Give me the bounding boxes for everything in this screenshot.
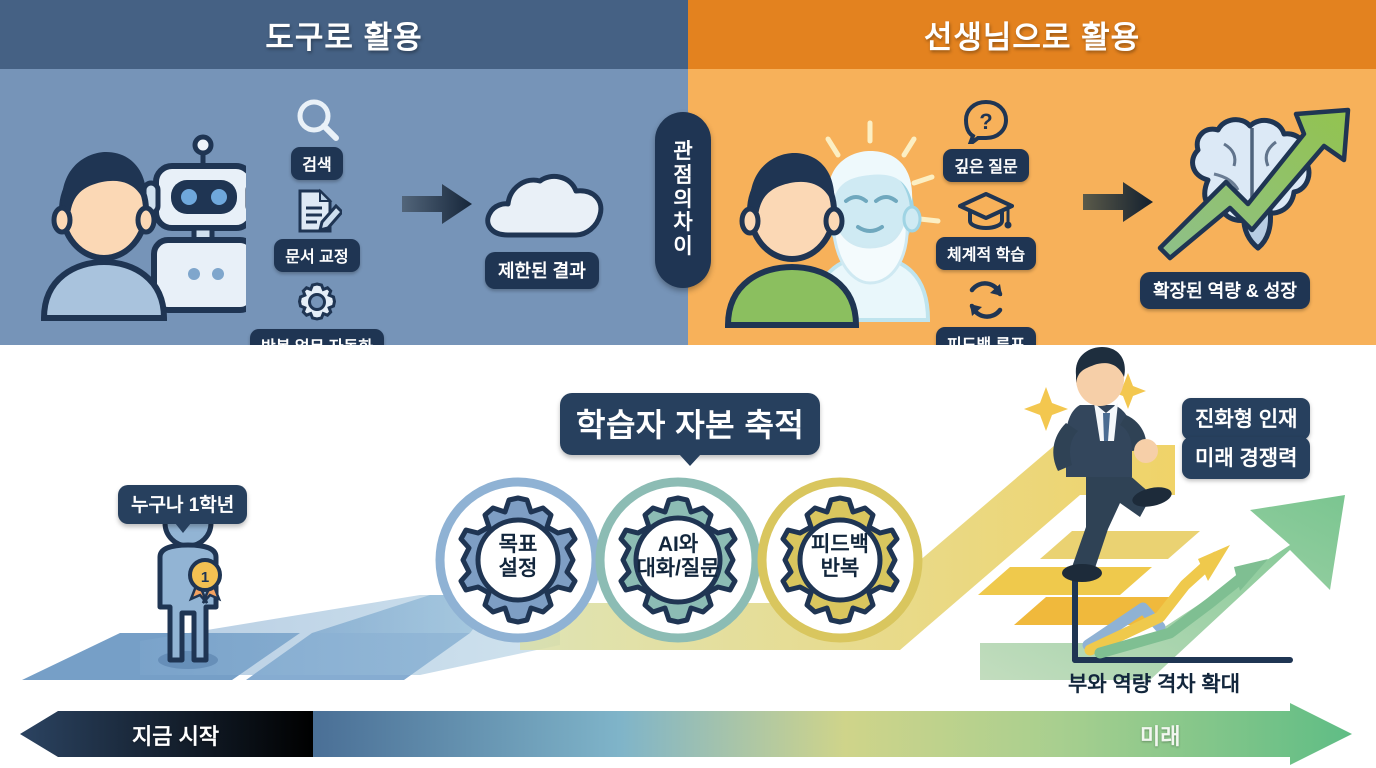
divider-char-3: 의 — [673, 189, 692, 212]
right-panel-header: 선생님으로 활용 — [688, 0, 1376, 69]
gear-icon — [294, 280, 340, 324]
right-panel-title: 선생님으로 활용 — [924, 12, 1140, 57]
bottom-journey-section: 1 — [0, 345, 1376, 768]
left-result-label: 제한된 결과 — [485, 252, 599, 289]
divider-char-1: 관 — [673, 141, 692, 164]
right-panel-capability-list: ? 깊은 질문 체계적 학습 — [936, 98, 1036, 360]
svg-text:1: 1 — [201, 569, 209, 586]
divider-char-2: 점 — [673, 165, 692, 188]
capability-label-proofreading: 문서 교정 — [274, 239, 359, 272]
right-result-label: 확장된 역량 & 성장 — [1140, 272, 1310, 309]
brain-growth-arrow-icon — [1148, 98, 1368, 263]
magnifier-icon — [294, 98, 340, 142]
capability-label-search: 검색 — [291, 147, 342, 180]
mini-chart-caption: 부와 역량 격차 확대 — [1068, 668, 1240, 698]
journey-title-bubble: 학습자 자본 축적 — [560, 393, 820, 455]
left-panel-capability-list: 검색 문서 교정 — [250, 98, 384, 362]
divider-char-4: 차 — [673, 212, 692, 235]
svg-text:?: ? — [979, 109, 992, 134]
question-bubble-icon: ? — [962, 98, 1010, 144]
divider-perspective-difference: 관 점 의 차 이 — [655, 112, 711, 288]
capability-item-proofreading: 문서 교정 — [274, 188, 359, 272]
graduation-cap-icon — [958, 190, 1014, 232]
left-panel-title: 도구로 활용 — [265, 12, 422, 57]
capability-item-search: 검색 — [291, 98, 342, 180]
outcome-badge-evolving-talent: 진화형 인재 — [1182, 398, 1310, 440]
left-panel-tool-usage: 도구로 활용 — [0, 0, 688, 345]
cloud-icon — [478, 163, 608, 243]
divider-char-5: 이 — [673, 236, 692, 259]
right-panel-teacher-usage: 선생님으로 활용 — [688, 0, 1376, 345]
start-person-label: 누구나 1학년 — [118, 485, 247, 524]
capability-label-deep-question: 깊은 질문 — [943, 149, 1028, 182]
left-panel-header: 도구로 활용 — [0, 0, 688, 69]
capability-item-systematic-learning: 체계적 학습 — [936, 190, 1036, 270]
infographic-root: 도구로 활용 — [0, 0, 1376, 768]
capability-label-systematic-learning: 체계적 학습 — [936, 237, 1036, 270]
timeline-end-label: 미래 — [1140, 719, 1180, 751]
capability-item-deep-question: ? 깊은 질문 — [943, 98, 1028, 182]
timeline-start-label: 지금 시작 — [132, 719, 219, 751]
top-comparison-section: 도구로 활용 — [0, 0, 1376, 345]
person-and-robot-icon — [26, 128, 246, 328]
person-and-sage-mentor-icon — [718, 115, 948, 330]
right-block-arrow-icon — [402, 182, 474, 226]
feedback-loop-icon — [962, 278, 1010, 322]
right-block-arrow-icon-2 — [1083, 180, 1155, 224]
document-edit-icon — [292, 188, 342, 234]
outcome-badge-future-competitiveness: 미래 경쟁력 — [1182, 437, 1310, 479]
